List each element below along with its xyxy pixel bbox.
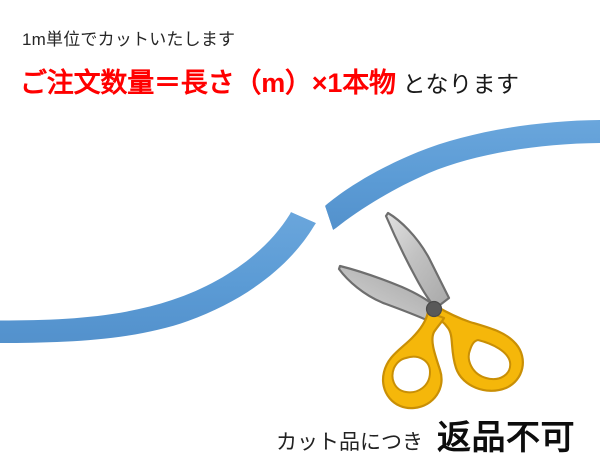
cable-left-segment bbox=[0, 212, 316, 343]
scissors-blade-upper bbox=[386, 213, 449, 308]
scissors-icon bbox=[339, 213, 523, 408]
headline-tail: となります bbox=[396, 71, 520, 97]
headline-line-1: 1m単位でカットいたします bbox=[22, 29, 235, 50]
scissors-handle-right bbox=[432, 306, 523, 391]
cable-right-segment bbox=[325, 120, 600, 230]
footnote-small-text: カット品につき bbox=[276, 426, 423, 456]
headline-line-2: ご注文数量＝長さ（m）×1本物 となります bbox=[20, 67, 520, 101]
footnote: カット品につき 返品不可 bbox=[276, 410, 575, 459]
footnote-emphasis-text: 返品不可 bbox=[437, 410, 575, 459]
scissors-handle-left bbox=[383, 312, 444, 408]
illustration-canvas: 1m単位でカットいたします ご注文数量＝長さ（m）×1本物 となります カット品… bbox=[0, 0, 600, 466]
cut-gap-icon bbox=[291, 206, 333, 230]
scissors-pivot-rivet bbox=[427, 302, 442, 317]
scissors-blade-lower bbox=[339, 266, 436, 321]
headline-emphasis: ご注文数量＝長さ（m）×1本物 bbox=[20, 68, 396, 98]
